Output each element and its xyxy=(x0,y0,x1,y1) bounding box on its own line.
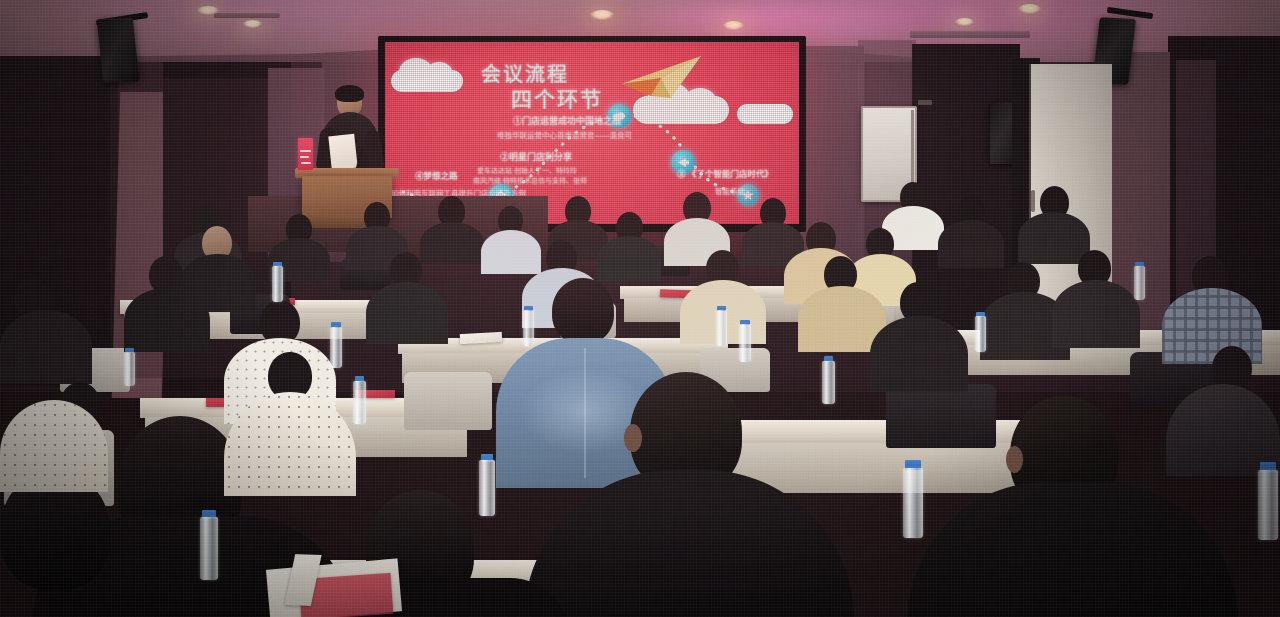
water-bottle xyxy=(353,376,366,424)
podium-sign-text-line xyxy=(300,150,311,152)
ceiling-downlight xyxy=(955,18,974,26)
bottle-body xyxy=(1258,470,1278,540)
bottle-body xyxy=(523,310,534,346)
water-bottle xyxy=(200,510,218,580)
audience-shoulders xyxy=(180,254,256,312)
water-bottle xyxy=(124,348,135,386)
bottle-body xyxy=(1134,266,1145,300)
water-bottle xyxy=(330,322,342,368)
ceiling-downlight xyxy=(1018,4,1041,14)
slide-section-1-sub: 唯独华联运营中心首席运营官——温良可 xyxy=(497,130,632,141)
bottle-body xyxy=(200,517,218,580)
door-handle[interactable] xyxy=(1031,190,1035,212)
audience-shoulders xyxy=(481,230,541,274)
ceiling-downlight xyxy=(723,21,744,30)
audience-shoulders xyxy=(870,316,968,392)
water-bottle xyxy=(479,454,495,516)
paper-plane-graphic xyxy=(617,54,705,102)
water-bottle xyxy=(716,306,727,346)
foreground-shoulders-black xyxy=(908,482,1238,617)
slide-section-2-sub-2: 南风汽修 特特技术总信与支持、张师 xyxy=(473,176,587,186)
ceiling-downlight xyxy=(590,10,614,20)
bottle-body xyxy=(330,327,342,368)
slide-title-line2: 四个环节 xyxy=(511,84,603,114)
water-bottle xyxy=(523,306,534,346)
water-bottle xyxy=(272,262,283,302)
ceiling-air-vent xyxy=(214,13,280,18)
audience-shoulders xyxy=(366,282,448,344)
podium-red-sign xyxy=(298,138,313,170)
bottle-body xyxy=(822,361,835,404)
audience-head xyxy=(552,278,614,344)
whiteboard-clip xyxy=(918,100,932,105)
audience-shoulders xyxy=(938,220,1004,268)
slide-section-4: ④梦想之路 xyxy=(415,170,458,182)
slide-section-3-sub: 智能系统 xyxy=(715,186,745,197)
presenter-hair xyxy=(335,85,364,102)
bottle-body xyxy=(124,352,135,386)
ceiling-air-vent xyxy=(910,31,1030,38)
audience-shoulders xyxy=(597,236,661,282)
bottle-body xyxy=(716,310,727,346)
water-bottle xyxy=(903,460,923,538)
slide-title-line1: 会议流程 xyxy=(481,58,569,87)
bottle-body xyxy=(975,316,986,352)
water-bottle xyxy=(975,312,986,352)
foreground-ear xyxy=(624,424,642,452)
podium-sign-text-line xyxy=(301,162,311,164)
slide-section-1: ①门店运营成功中国地之战 xyxy=(513,114,621,127)
bottle-body xyxy=(739,324,751,362)
bottle-body xyxy=(272,266,283,302)
presenter-notes xyxy=(328,134,357,171)
bottle-body xyxy=(479,460,495,516)
foreground-ear xyxy=(1006,446,1023,473)
chair-back xyxy=(404,372,492,430)
slide-section-3: ③ 《了个智能门店时代》 xyxy=(677,168,773,180)
water-bottle xyxy=(1258,462,1278,540)
bottle-body xyxy=(903,468,923,538)
slide-section-2-sub-1: 爱车达达站 创始人了一、特玲玲 xyxy=(477,166,577,176)
audience-shoulders xyxy=(1052,280,1140,348)
chair-back-dark xyxy=(886,384,996,448)
ceiling-downlight xyxy=(243,20,262,28)
audience-shoulders xyxy=(1018,212,1090,264)
audience-shoulders xyxy=(420,222,484,264)
conference-room-photo: 会议流程 四个环节 ①门店运营成功中国地之战 唯独华联运营中心首席运营官——温良… xyxy=(0,0,1280,617)
water-bottle xyxy=(1134,262,1145,300)
slide-section-2: ②明星门店利分享 xyxy=(500,150,572,163)
audience-shoulders xyxy=(0,310,92,384)
podium-sign-text-line xyxy=(300,156,309,158)
water-bottle xyxy=(739,320,751,362)
bottle-body xyxy=(353,381,366,424)
water-bottle xyxy=(822,356,835,404)
pa-speaker-left xyxy=(97,17,140,83)
